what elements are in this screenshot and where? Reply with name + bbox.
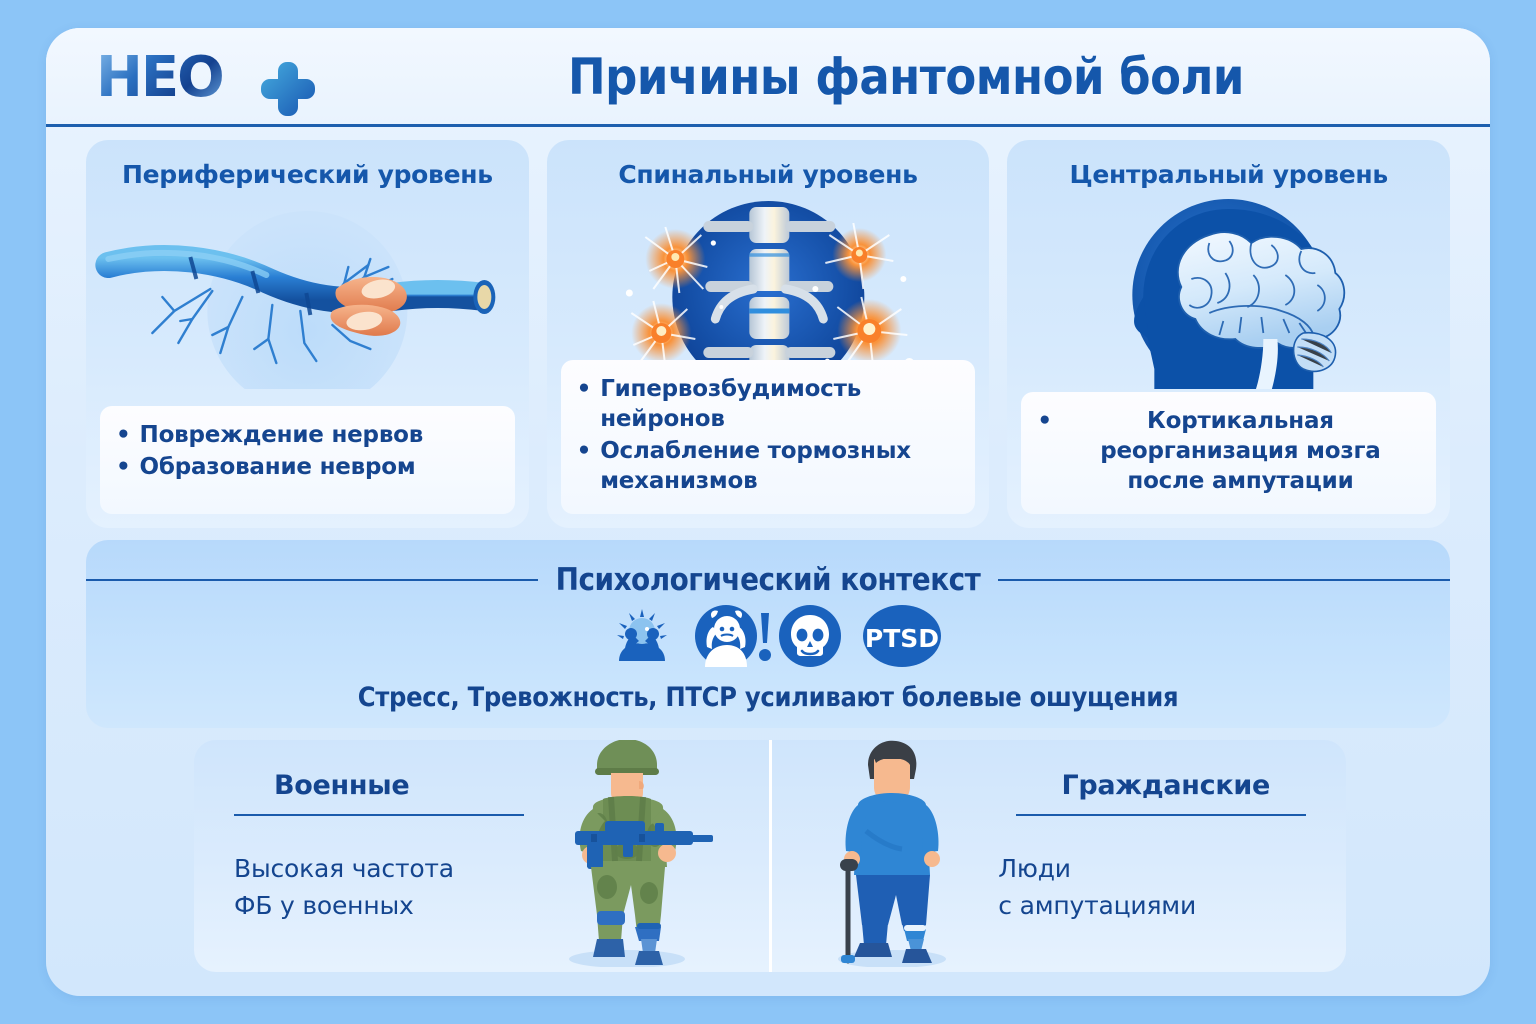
psychological-context-panel: Психологический контекст (86, 540, 1450, 728)
group-text-line: с ампутациями (998, 887, 1196, 924)
level-card-central: Центральный уровень (1007, 140, 1450, 528)
brand-logo: HEO (96, 50, 223, 106)
bullet-item: •Повреждение нервов (116, 420, 499, 450)
group-text-line: Люди (998, 850, 1196, 887)
soldier-with-prosthetic-illustration (535, 740, 715, 972)
bullet-text: Повреждение нервов (140, 420, 424, 450)
rule-left (86, 579, 538, 581)
groups-row: Военные Высокая частота ФБ у военных (194, 740, 1346, 972)
brain-head-illustration (1007, 193, 1450, 389)
group-text-line: Высокая частота (234, 850, 454, 887)
group-card-military: Военные Высокая частота ФБ у военных (194, 740, 769, 972)
group-card-civilian: Гражданские Люди с ампутациями (772, 740, 1347, 972)
bullet-marker: • (116, 452, 131, 482)
group-text-line: ФБ у военных (234, 887, 454, 924)
psych-caption: Стресс, Тревожность, ПТСР усиливают боле… (86, 682, 1450, 713)
bullet-marker: • (577, 436, 592, 496)
level-bullets-central: •Кортикальная реорганизация мозга после … (1021, 392, 1436, 514)
ptsd-badge-icon: PTSD (863, 605, 925, 667)
bullet-marker: • (116, 420, 131, 450)
bullet-item: •Гипервозбудимость нейронов (577, 374, 960, 434)
group-label-civilian: Гражданские (1061, 770, 1270, 801)
header-bar: HEO Причины фантомной боли (46, 28, 1490, 127)
level-title-spinal: Спинальный уровень (547, 140, 990, 189)
psych-title: Психологический контекст (556, 562, 981, 598)
bullet-item: •Ослабление тормозных механизмов (577, 436, 960, 496)
psych-header: Психологический контекст (86, 558, 1450, 602)
psych-icons-row: PTSD (86, 604, 1450, 668)
rule-right (998, 579, 1450, 581)
bullet-marker: • (577, 374, 592, 434)
group-text-military: Высокая частота ФБ у военных (234, 850, 454, 924)
bullet-marker: • (1037, 406, 1052, 496)
level-bullets-spinal: •Гипервозбудимость нейронов •Ослабление … (561, 360, 976, 514)
civilian-with-cane-and-prosthetic-illustration (806, 740, 976, 972)
group-text-civilian: Люди с ампутациями (998, 850, 1196, 924)
levels-row: Периферический уровень (86, 140, 1450, 528)
level-title-central: Центральный уровень (1007, 140, 1450, 189)
bullet-text: Кортикальная реорганизация мозга после а… (1061, 406, 1420, 496)
skull-icon (779, 605, 841, 667)
bullet-text: Гипервозбудимость нейронов (600, 374, 959, 434)
bullet-item: •Образование невром (116, 452, 499, 482)
stressed-person-icon (611, 605, 673, 667)
bullet-text: Ослабление тормозных механизмов (600, 436, 959, 496)
damaged-nerve-illustration (86, 193, 529, 389)
page-title: Причины фантомной боли (376, 48, 1436, 106)
group-label-military: Военные (274, 770, 409, 801)
group-rule (234, 814, 524, 816)
level-card-spinal: Спинальный уровень (547, 140, 990, 528)
level-bullets-peripheral: •Повреждение нервов •Образование невром (100, 406, 515, 514)
bullet-text: Образование невром (140, 452, 416, 482)
bullet-item: •Кортикальная реорганизация мозга после … (1037, 406, 1420, 496)
ptsd-label: PTSD (865, 624, 939, 653)
anxious-person-icon (695, 605, 757, 667)
plus-icon (261, 62, 315, 116)
infographic-poster: HEO Причины фантомной боли Периферически… (46, 28, 1490, 996)
level-card-peripheral: Периферический уровень (86, 140, 529, 528)
level-title-peripheral: Периферический уровень (86, 140, 529, 189)
group-rule (1016, 814, 1306, 816)
